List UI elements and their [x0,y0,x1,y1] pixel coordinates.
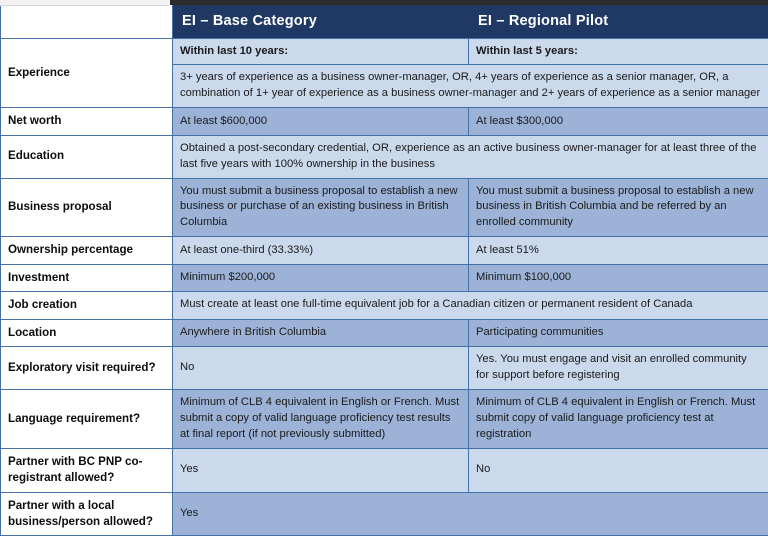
cell-language-requirement-base: Minimum of CLB 4 equivalent in English o… [173,389,469,448]
row-label-language-requirement: Language requirement? [1,389,173,448]
table-row: Net worth At least $600,000 At least $30… [1,108,768,135]
row-label-education: Education [1,135,173,178]
top-left-strip [0,0,170,6]
row-label-net-worth: Net worth [1,108,173,135]
cell-experience-base-subhead: Within last 10 years: [173,38,469,65]
cell-education-merged: Obtained a post-secondary credential, OR… [173,135,768,178]
table-row: Education Obtained a post-secondary cred… [1,135,768,178]
header-ei-regional-pilot: EI – Regional Pilot [469,5,768,39]
table-row: Job creation Must create at least one fu… [1,292,768,319]
table-row: Location Anywhere in British Columbia Pa… [1,319,768,346]
cell-partner-co-registrant-pilot: No [469,448,768,492]
comparison-table-container: EI – Base Category EI – Regional Pilot E… [0,4,768,536]
row-label-partner-local-business: Partner with a local business/person all… [1,492,173,536]
cell-partner-co-registrant-base: Yes [173,448,469,492]
table-row: Partner with BC PNP co-registrant allowe… [1,448,768,492]
row-label-business-proposal: Business proposal [1,178,173,237]
cell-exploratory-visit-pilot: Yes. You must engage and visit an enroll… [469,347,768,390]
row-label-partner-co-registrant: Partner with BC PNP co-registrant allowe… [1,448,173,492]
cell-ownership-percentage-pilot: At least 51% [469,237,768,264]
header-ei-base-category: EI – Base Category [173,5,469,39]
cell-partner-local-business-merged: Yes [173,492,768,536]
cell-investment-pilot: Minimum $100,000 [469,264,768,291]
row-label-experience: Experience [1,38,173,108]
cell-exploratory-visit-base: No [173,347,469,390]
header-blank-cell [1,5,173,39]
cell-business-proposal-pilot: You must submit a business proposal to e… [469,178,768,237]
table-row: Language requirement? Minimum of CLB 4 e… [1,389,768,448]
table-row: Ownership percentage At least one-third … [1,237,768,264]
cell-net-worth-pilot: At least $300,000 [469,108,768,135]
table-header-row: EI – Base Category EI – Regional Pilot [1,5,768,39]
cell-investment-base: Minimum $200,000 [173,264,469,291]
table-row: Investment Minimum $200,000 Minimum $100… [1,264,768,291]
table-row: Experience Within last 10 years: Within … [1,38,768,65]
cell-ownership-percentage-base: At least one-third (33.33%) [173,237,469,264]
bc-pnp-comparison-table: EI – Base Category EI – Regional Pilot E… [0,4,768,536]
row-label-job-creation: Job creation [1,292,173,319]
cell-experience-merged: 3+ years of experience as a business own… [173,65,768,108]
row-label-exploratory-visit: Exploratory visit required? [1,347,173,390]
table-row: Exploratory visit required? No Yes. You … [1,347,768,390]
table-row: Partner with a local business/person all… [1,492,768,536]
row-label-ownership-percentage: Ownership percentage [1,237,173,264]
cell-net-worth-base: At least $600,000 [173,108,469,135]
row-label-investment: Investment [1,264,173,291]
cell-location-pilot: Participating communities [469,319,768,346]
table-row: Business proposal You must submit a busi… [1,178,768,237]
cell-location-base: Anywhere in British Columbia [173,319,469,346]
cell-job-creation-merged: Must create at least one full-time equiv… [173,292,768,319]
cell-experience-pilot-subhead: Within last 5 years: [469,38,768,65]
cell-business-proposal-base: You must submit a business proposal to e… [173,178,469,237]
row-label-location: Location [1,319,173,346]
cell-language-requirement-pilot: Minimum of CLB 4 equivalent in English o… [469,389,768,448]
